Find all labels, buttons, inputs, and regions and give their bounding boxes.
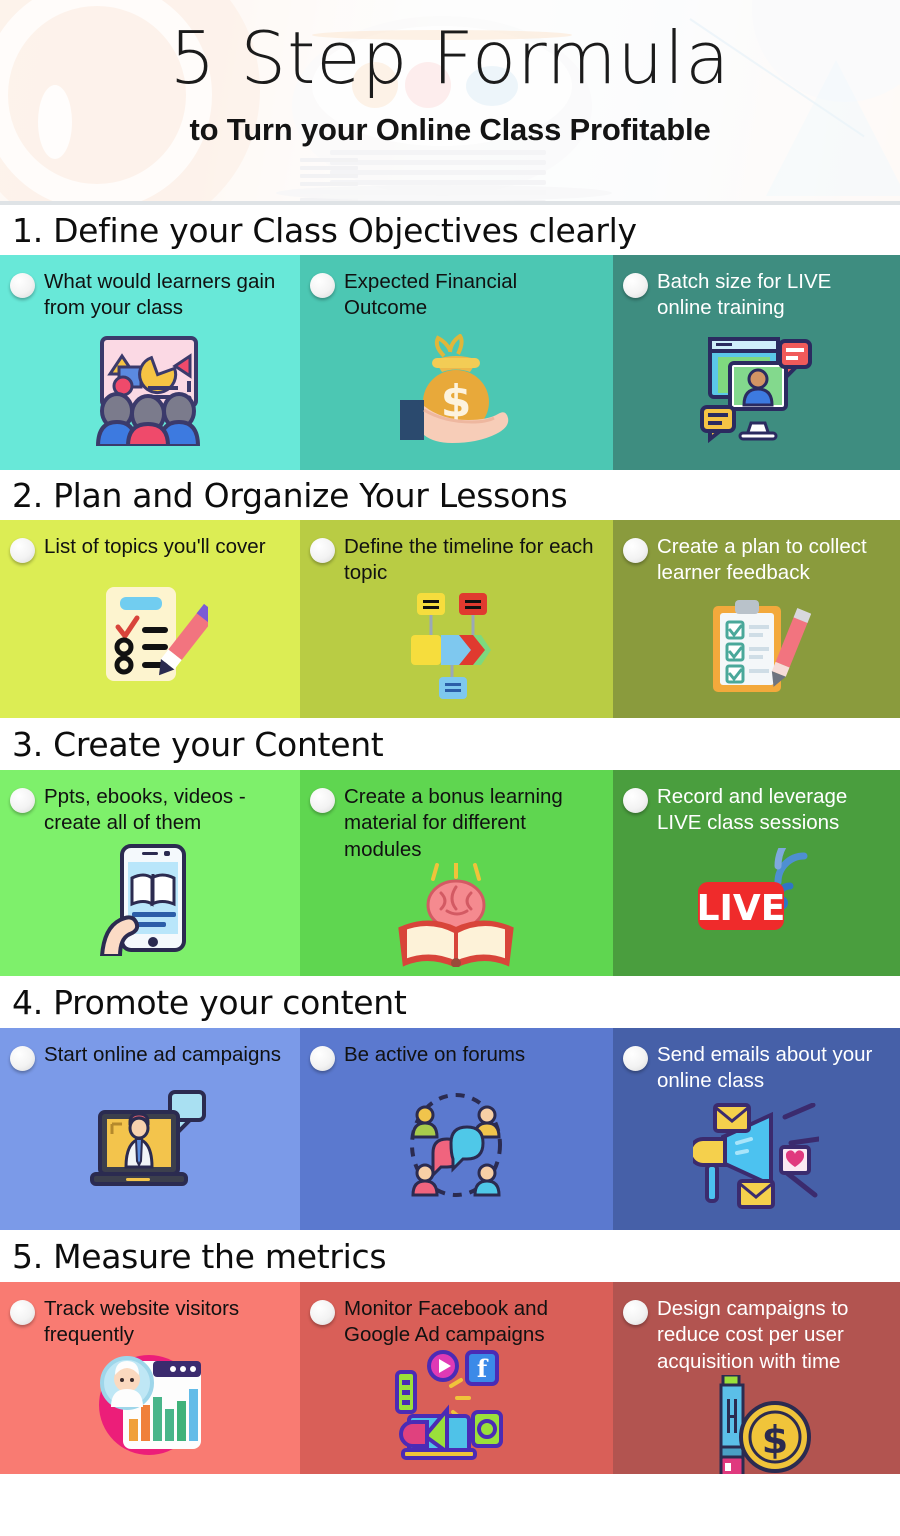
card-header: What would learners gain from your class [10, 269, 288, 322]
card-5-3[interactable]: Design campaigns to reduce cost per user… [613, 1282, 900, 1474]
card-label: Ppts, ebooks, videos - create all of the… [44, 784, 288, 837]
pencil-coin-cost-icon: $ [623, 1375, 888, 1474]
card-5-2[interactable]: Monitor Facebook and Google Ad campaigns… [300, 1282, 613, 1474]
step-heading-4: 4. Promote your content [0, 976, 900, 1028]
laptop-ad-campaign-icon [10, 1071, 288, 1222]
step-heading-2: 2. Plan and Organize Your Lessons [0, 470, 900, 520]
bullet-icon [310, 273, 335, 298]
card-header: Start online ad campaigns [10, 1042, 288, 1071]
card-header: Record and leverage LIVE class sessions [623, 784, 888, 837]
card-label: Create a bonus learning material for dif… [344, 784, 601, 863]
card-label: Design campaigns to reduce cost per user… [657, 1296, 888, 1375]
card-label: What would learners gain from your class [44, 269, 288, 322]
bullet-icon [623, 1046, 648, 1071]
live-badge-label: LIVE [696, 888, 785, 929]
social-ads-megaphone-icon: f [310, 1349, 601, 1466]
website-analytics-icon [10, 1349, 288, 1466]
bullet-icon [623, 788, 648, 813]
card-3-1[interactable]: Ppts, ebooks, videos - create all of the… [0, 770, 300, 976]
card-2-2[interactable]: Define the timeline for each topic [300, 520, 613, 718]
card-2-1[interactable]: List of topics you'll cover [0, 520, 300, 718]
card-header: Be active on forums [310, 1042, 601, 1071]
step-heading-1: 1. Define your Class Objectives clearly [0, 205, 900, 255]
card-1-3[interactable]: Batch size for LIVE online training [613, 255, 900, 470]
card-header: Ppts, ebooks, videos - create all of the… [10, 784, 288, 837]
card-header: Create a plan to collect learner feedbac… [623, 534, 888, 587]
card-4-2[interactable]: Be active on forums [300, 1028, 613, 1230]
card-label: Create a plan to collect learner feedbac… [657, 534, 888, 587]
card-label: Monitor Facebook and Google Ad campaigns [344, 1296, 601, 1349]
header-banner: 5 Step Formula to Turn your Online Class… [0, 0, 900, 205]
page-title: 5 Step Formula [0, 0, 900, 94]
bullet-icon [310, 1046, 335, 1071]
step-row-4: Start online ad campaigns [0, 1028, 900, 1230]
presentation-audience-icon [10, 322, 288, 462]
forum-community-icon [310, 1071, 601, 1222]
card-header: List of topics you'll cover [10, 534, 288, 563]
step-heading-5: 5. Measure the metrics [0, 1230, 900, 1282]
live-broadcast-icon: LIVE [623, 837, 888, 968]
card-4-3[interactable]: Send emails about your online class [613, 1028, 900, 1230]
clipboard-feedback-icon [623, 587, 888, 710]
checklist-pencil-icon [10, 563, 288, 710]
card-label: Track website visitors frequently [44, 1296, 288, 1349]
facebook-glyph: f [476, 1354, 488, 1383]
card-header: Create a bonus learning material for dif… [310, 784, 601, 863]
hand-money-bag-icon: $ [310, 322, 601, 462]
header-divider [0, 201, 900, 205]
card-header: Design campaigns to reduce cost per user… [623, 1296, 888, 1375]
step-row-5: Track website visitors frequently [0, 1282, 900, 1474]
card-label: Record and leverage LIVE class sessions [657, 784, 888, 837]
card-1-1[interactable]: What would learners gain from your class [0, 255, 300, 470]
card-label: Expected Financial Outcome [344, 269, 601, 322]
card-label: Batch size for LIVE online training [657, 269, 888, 322]
bullet-icon [10, 273, 35, 298]
card-header: Monitor Facebook and Google Ad campaigns [310, 1296, 601, 1349]
step-row-1: What would learners gain from your class [0, 255, 900, 470]
bullet-icon [10, 538, 35, 563]
brain-book-icon [310, 863, 601, 971]
card-label: Define the timeline for each topic [344, 534, 601, 587]
card-header: Expected Financial Outcome [310, 269, 601, 322]
card-header: Define the timeline for each topic [310, 534, 601, 587]
bullet-icon [10, 788, 35, 813]
card-3-2[interactable]: Create a bonus learning material for dif… [300, 770, 613, 976]
card-label: List of topics you'll cover [44, 534, 266, 560]
infographic-page: 5 Step Formula to Turn your Online Class… [0, 0, 900, 1536]
timeline-flowchart-icon [310, 587, 601, 710]
page-subtitle: to Turn your Online Class Profitable [0, 112, 900, 148]
card-label: Be active on forums [344, 1042, 525, 1068]
card-header: Send emails about your online class [623, 1042, 888, 1095]
card-header: Batch size for LIVE online training [623, 269, 888, 322]
card-label: Start online ad campaigns [44, 1042, 281, 1068]
bullet-icon [10, 1046, 35, 1071]
bullet-icon [623, 1300, 648, 1325]
card-4-1[interactable]: Start online ad campaigns [0, 1028, 300, 1230]
bullet-icon [10, 1300, 35, 1325]
card-header: Track website visitors frequently [10, 1296, 288, 1349]
card-5-1[interactable]: Track website visitors frequently [0, 1282, 300, 1474]
card-1-2[interactable]: Expected Financial Outcome $ [300, 255, 613, 470]
bullet-icon [623, 538, 648, 563]
bullet-icon [310, 788, 335, 813]
svg-text:$: $ [761, 1418, 787, 1462]
step-row-3: Ppts, ebooks, videos - create all of the… [0, 770, 900, 976]
bullet-icon [310, 538, 335, 563]
online-training-screen-icon [623, 322, 888, 462]
bullet-icon [310, 1300, 335, 1325]
step-heading-3: 3. Create your Content [0, 718, 900, 770]
card-label: Send emails about your online class [657, 1042, 888, 1095]
card-3-3[interactable]: Record and leverage LIVE class sessions … [613, 770, 900, 976]
step-row-2: List of topics you'll cover [0, 520, 900, 718]
ebook-phone-icon [10, 837, 288, 968]
card-2-3[interactable]: Create a plan to collect learner feedbac… [613, 520, 900, 718]
bullet-icon [623, 273, 648, 298]
email-megaphone-icon [623, 1095, 888, 1222]
